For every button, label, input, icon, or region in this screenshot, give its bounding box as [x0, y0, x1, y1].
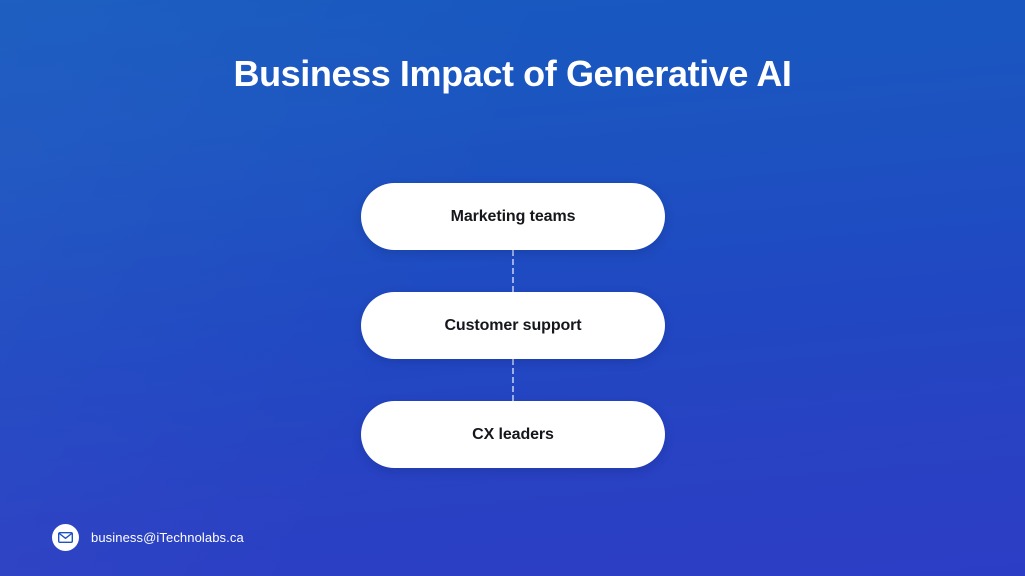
page-title: Business Impact of Generative AI — [0, 50, 1025, 98]
flow-connector-1 — [361, 250, 665, 292]
footer-email-text: business@iTechnolabs.ca — [91, 530, 244, 545]
envelope-icon — [52, 524, 79, 551]
flow-node-cx-leaders[interactable]: CX leaders — [361, 401, 665, 468]
dashed-line-icon — [512, 359, 514, 401]
flow-connector-2 — [361, 359, 665, 401]
flow-node-customer-support[interactable]: Customer support — [361, 292, 665, 359]
flow-node-label: Marketing teams — [451, 208, 576, 226]
dashed-line-icon — [512, 250, 514, 292]
footer-contact: business@iTechnolabs.ca — [52, 524, 244, 551]
flow-node-label: Customer support — [444, 317, 581, 335]
flow-diagram: Marketing teams Customer support CX lead… — [361, 183, 665, 468]
slide-canvas: Business Impact of Generative AI Marketi… — [0, 0, 1025, 576]
flow-node-label: CX leaders — [472, 426, 554, 444]
flow-node-marketing-teams[interactable]: Marketing teams — [361, 183, 665, 250]
